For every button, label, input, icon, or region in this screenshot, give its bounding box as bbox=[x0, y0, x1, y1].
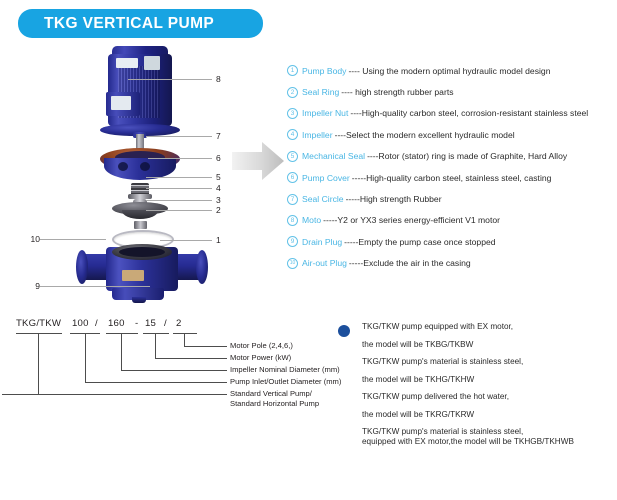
code-label-pump-type: Standard Vertical Pump/ Standard Horizon… bbox=[230, 389, 319, 408]
pump-cover-port-left bbox=[118, 162, 128, 171]
leader-line-1 bbox=[160, 240, 212, 241]
callout-number-4: 4 bbox=[216, 183, 228, 193]
note-line-3: TKG/TKW pump's material is stainless ste… bbox=[362, 357, 617, 367]
code-drop-pole bbox=[184, 333, 185, 346]
leader-line-2 bbox=[146, 210, 212, 211]
legend-number-circle-3: 3 bbox=[287, 108, 298, 119]
code-separator-3: / bbox=[164, 318, 167, 329]
notes-text-block: TKG/TKW pump equipped with EX motor, the… bbox=[362, 322, 617, 447]
legend-item-1: 1 Pump Body ---- Using the modern optima… bbox=[287, 60, 617, 81]
legend-part-desc-8: -----Y2 or YX3 series energy-efficient V… bbox=[323, 215, 500, 225]
code-drop-impeller bbox=[121, 333, 122, 370]
code-label-pump-type-line2: Standard Horizontal Pump bbox=[230, 399, 319, 409]
legend-part-desc-10: -----Exclude the air in the casing bbox=[349, 258, 471, 268]
note-line-7: TKG/TKW pump's material is stainless ste… bbox=[362, 427, 617, 437]
code-bar-power bbox=[143, 333, 169, 334]
code-bar-series bbox=[16, 333, 62, 334]
callout-number-9: 9 bbox=[28, 281, 40, 291]
legend-item-6: 6 Pump Cover -----High-quality carbon st… bbox=[287, 167, 617, 188]
code-label-motor-power: Motor Power (kW) bbox=[230, 353, 291, 363]
legend-part-name-10: Air-out Plug bbox=[302, 258, 347, 268]
legend-item-2: 2 Seal Ring ---- high strength rubber pa… bbox=[287, 81, 617, 102]
bullet-dot-icon bbox=[338, 325, 350, 337]
note-line-2: the model will be TKBG/TKBW bbox=[362, 340, 617, 350]
legend-part-name-3: Impeller Nut bbox=[302, 108, 348, 118]
legend-part-name-2: Seal Ring bbox=[302, 87, 339, 97]
product-spec-page: TKG VERTICAL PUMP bbox=[0, 0, 617, 500]
code-drop-inlet bbox=[85, 333, 86, 382]
pump-outlet-flange-face bbox=[196, 250, 208, 284]
code-elbow-impeller bbox=[121, 370, 227, 371]
model-designation-diagram: TKG/TKW 100 / 160 - 15 / 2 Motor Pole (2… bbox=[14, 318, 264, 493]
code-elbow-pole bbox=[184, 346, 227, 347]
code-drop-power bbox=[155, 333, 156, 358]
note-line-1: TKG/TKW pump equipped with EX motor, bbox=[362, 322, 617, 332]
legend-part-desc-4: ----Select the modern excellent hydrauli… bbox=[335, 130, 515, 140]
legend-part-name-9: Drain Plug bbox=[302, 237, 342, 247]
pump-body-nameplate bbox=[122, 270, 144, 281]
code-label-pump-type-line1: Standard Vertical Pump/ bbox=[230, 389, 319, 399]
legend-number-circle-6: 6 bbox=[287, 172, 298, 183]
right-arrow-icon bbox=[232, 140, 284, 182]
code-segment-impeller: 160 bbox=[108, 318, 125, 329]
callout-number-10: 10 bbox=[26, 234, 40, 244]
callout-number-3: 3 bbox=[216, 195, 228, 205]
motor-label bbox=[144, 56, 160, 70]
pump-inlet-flange-face bbox=[76, 250, 88, 284]
callout-number-7: 7 bbox=[216, 131, 228, 141]
callout-number-6: 6 bbox=[216, 153, 228, 163]
legend-item-7: 7 Seal Circle -----High strength Rubber bbox=[287, 188, 617, 209]
note-line-4: the model will be TKHG/TKHW bbox=[362, 375, 617, 385]
callout-number-2: 2 bbox=[216, 205, 228, 215]
flow-arrow bbox=[232, 140, 284, 182]
page-title-banner: TKG VERTICAL PUMP bbox=[18, 9, 263, 38]
drain-plug bbox=[132, 297, 146, 303]
code-separator-2: - bbox=[135, 318, 138, 329]
legend-part-name-6: Pump Cover bbox=[302, 173, 350, 183]
code-segment-pole: 2 bbox=[176, 318, 182, 329]
impeller-nut bbox=[134, 221, 147, 229]
parts-legend: 1 Pump Body ---- Using the modern optima… bbox=[287, 60, 617, 274]
legend-part-name-1: Pump Body bbox=[302, 66, 346, 76]
pump-body-bore bbox=[119, 247, 165, 257]
note-line-8: equipped with EX motor,the model will be… bbox=[362, 437, 617, 447]
legend-number-circle-7: 7 bbox=[287, 194, 298, 205]
legend-number-circle-8: 8 bbox=[287, 215, 298, 226]
code-label-inlet-diameter: Pump Inlet/Outlet Diameter (mm) bbox=[230, 377, 341, 387]
code-segment-inlet: 100 bbox=[72, 318, 89, 329]
code-elbow-series bbox=[2, 394, 227, 395]
legend-number-circle-4: 4 bbox=[287, 129, 298, 140]
leader-line-5 bbox=[146, 177, 212, 178]
leader-line-8 bbox=[128, 79, 212, 80]
legend-number-circle-1: 1 bbox=[287, 65, 298, 76]
leader-line-9 bbox=[40, 286, 150, 287]
legend-item-8: 8 Moto -----Y2 or YX3 series energy-effi… bbox=[287, 210, 617, 231]
leader-line-6 bbox=[148, 158, 212, 159]
code-elbow-inlet bbox=[85, 382, 227, 383]
legend-part-name-7: Seal Circle bbox=[302, 194, 344, 204]
code-segment-series: TKG/TKW bbox=[16, 318, 61, 329]
code-segment-power: 15 bbox=[145, 318, 156, 329]
leader-line-3 bbox=[146, 200, 212, 201]
legend-part-desc-5: ----Rotor (stator) ring is made of Graph… bbox=[367, 151, 567, 161]
legend-part-name-8: Moto bbox=[302, 215, 321, 225]
pump-cover-port-right bbox=[140, 162, 150, 171]
leader-line-7 bbox=[146, 136, 212, 137]
exploded-pump-diagram bbox=[60, 44, 230, 299]
legend-part-desc-7: -----High strength Rubber bbox=[346, 194, 442, 204]
code-elbow-power bbox=[155, 358, 227, 359]
code-label-motor-pole: Motor Pole (2,4,6,) bbox=[230, 341, 293, 351]
leader-line-10 bbox=[40, 239, 106, 240]
motor-nameplate bbox=[116, 58, 138, 68]
legend-part-desc-1: ---- Using the modern optimal hydraulic … bbox=[348, 66, 550, 76]
impeller-skirt bbox=[122, 210, 158, 219]
code-separator-1: / bbox=[95, 318, 98, 329]
legend-item-3: 3 Impeller Nut ----High-quality carbon s… bbox=[287, 103, 617, 124]
callout-number-1: 1 bbox=[216, 235, 228, 245]
note-line-6: the model will be TKRG/TKRW bbox=[362, 410, 617, 420]
note-line-5: TKG/TKW pump delivered the hot water, bbox=[362, 392, 617, 402]
legend-item-4: 4 Impeller ----Select the modern excelle… bbox=[287, 124, 617, 145]
legend-number-circle-5: 5 bbox=[287, 151, 298, 162]
legend-item-5: 5 Mechanical Seal ----Rotor (stator) rin… bbox=[287, 146, 617, 167]
legend-part-desc-6: -----High-quality carbon steel, stainles… bbox=[352, 173, 552, 183]
page-title: TKG VERTICAL PUMP bbox=[18, 15, 214, 33]
code-label-impeller-diameter: Impeller Nominal Diameter (mm) bbox=[230, 365, 340, 375]
leader-line-4 bbox=[146, 188, 212, 189]
terminal-box-plate bbox=[111, 96, 131, 110]
legend-item-9: 9 Drain Plug -----Empty the pump case on… bbox=[287, 231, 617, 252]
legend-number-circle-9: 9 bbox=[287, 236, 298, 247]
legend-part-name-4: Impeller bbox=[302, 130, 333, 140]
legend-item-10: 10 Air-out Plug -----Exclude the air in … bbox=[287, 253, 617, 274]
callout-number-8: 8 bbox=[216, 74, 228, 84]
code-drop-series bbox=[38, 333, 39, 394]
code-bar-impeller bbox=[106, 333, 138, 334]
legend-part-desc-2: ---- high strength rubber parts bbox=[341, 87, 453, 97]
code-bar-pole bbox=[173, 333, 197, 334]
legend-number-circle-10: 10 bbox=[287, 258, 298, 269]
legend-part-desc-3: ----High-quality carbon steel, corrosion… bbox=[350, 108, 588, 118]
legend-part-name-5: Mechanical Seal bbox=[302, 151, 365, 161]
legend-part-desc-9: -----Empty the pump case once stopped bbox=[344, 237, 495, 247]
legend-number-circle-2: 2 bbox=[287, 87, 298, 98]
callout-number-5: 5 bbox=[216, 172, 228, 182]
